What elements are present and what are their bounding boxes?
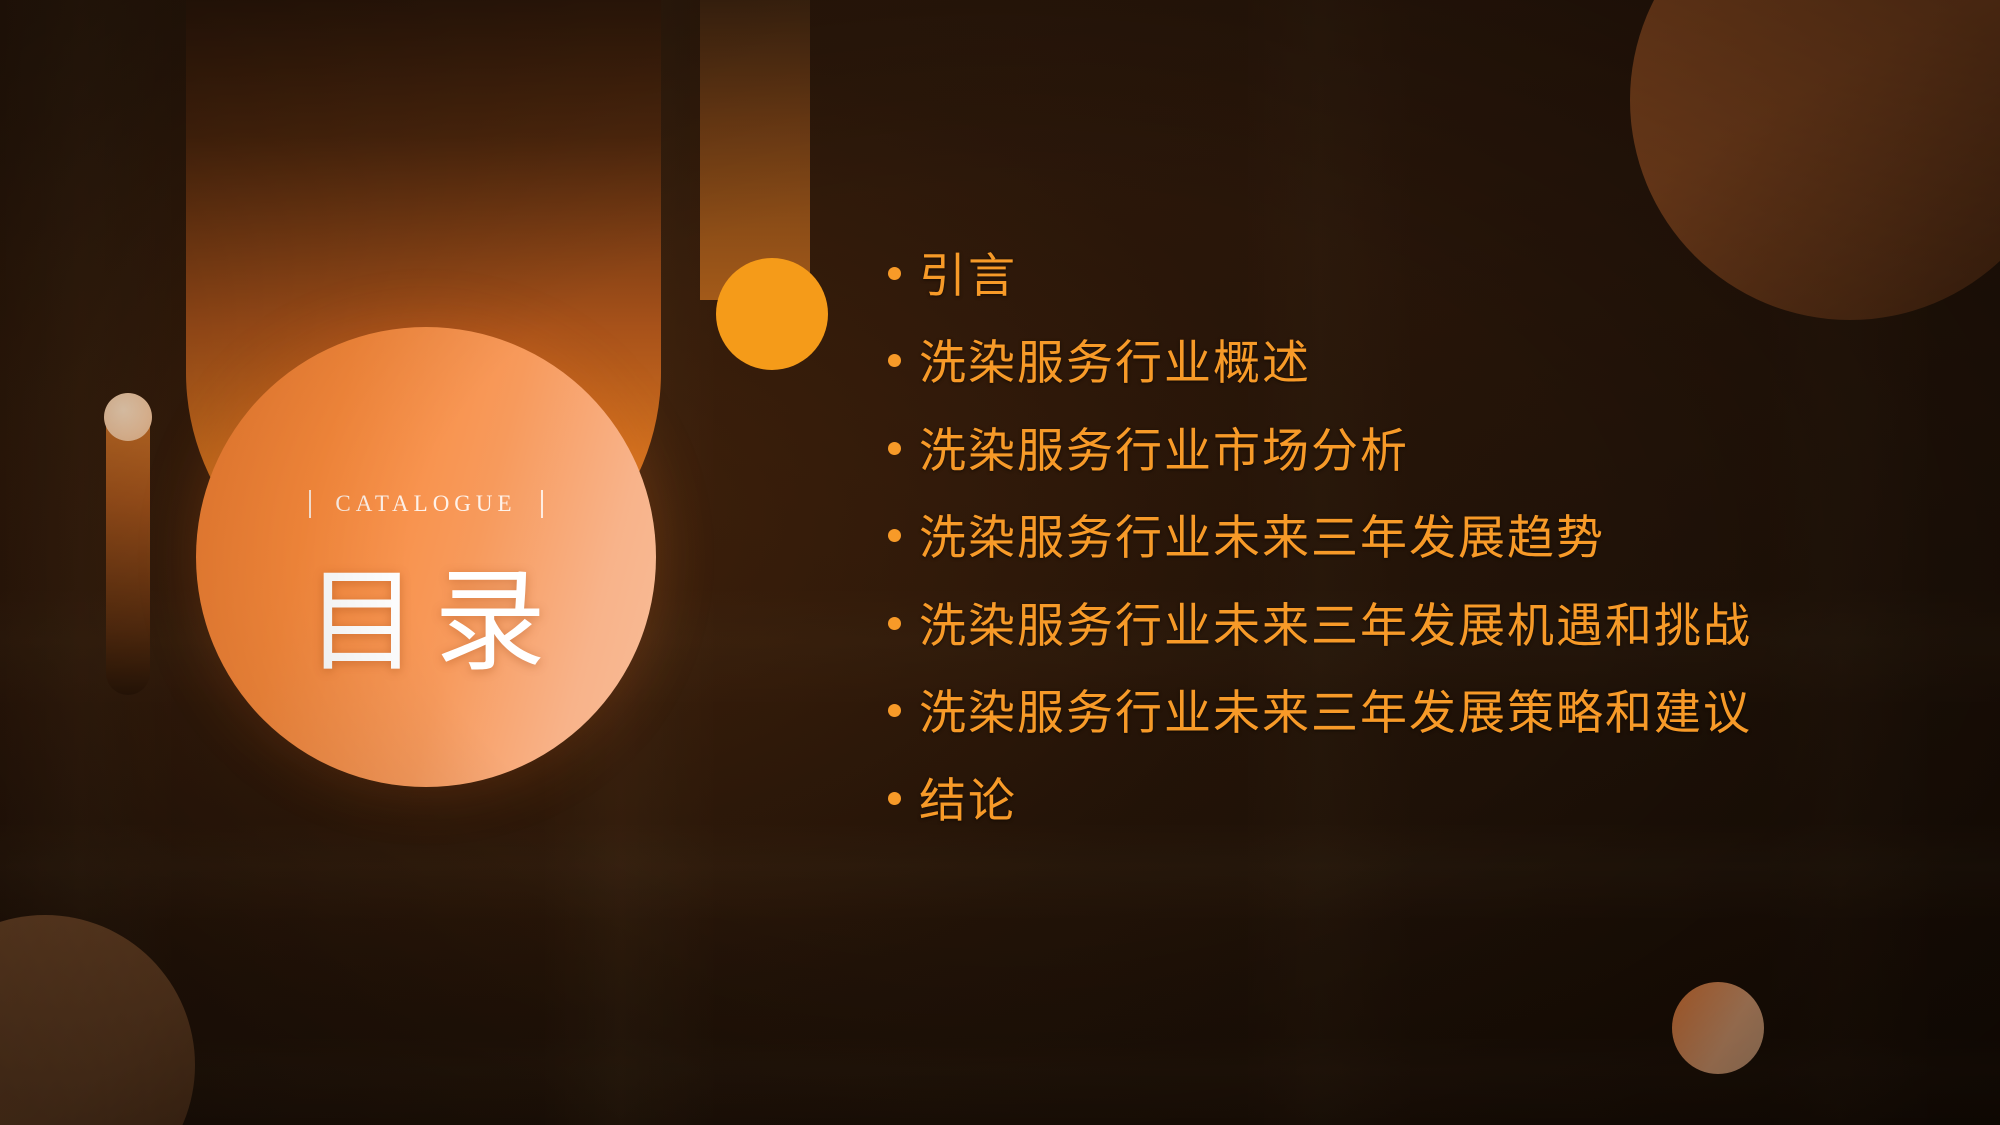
bullet-dot-icon bbox=[888, 704, 901, 717]
bullet-dot-icon bbox=[888, 792, 901, 805]
decorative-column-narrow bbox=[700, 0, 810, 300]
decorative-circle-bottom-left bbox=[0, 915, 195, 1125]
bullet-dot-icon bbox=[888, 529, 901, 542]
toc-item[interactable]: 洗染服务行业概述 bbox=[888, 337, 1908, 392]
slide-canvas: CATALOGUE 目录 引言 洗染服务行业概述 洗染服务行业市场分析 洗染服务… bbox=[0, 0, 2000, 1125]
toc-item[interactable]: 洗染服务行业未来三年发展趋势 bbox=[888, 512, 1908, 567]
bullet-dot-icon bbox=[888, 267, 901, 280]
toc-item-label: 洗染服务行业概述 bbox=[919, 337, 1311, 392]
toc-item[interactable]: 洗染服务行业未来三年发展机遇和挑战 bbox=[888, 600, 1908, 655]
toc-item-label: 洗染服务行业未来三年发展机遇和挑战 bbox=[919, 600, 1752, 655]
catalogue-badge: CATALOGUE 目录 bbox=[196, 327, 656, 787]
tick-left-icon bbox=[309, 490, 311, 518]
toc-item-label: 洗染服务行业未来三年发展策略和建议 bbox=[919, 687, 1752, 742]
toc-item[interactable]: 结论 bbox=[888, 775, 1908, 830]
catalogue-eyebrow-row: CATALOGUE bbox=[196, 490, 656, 518]
table-of-contents: 引言 洗染服务行业概述 洗染服务行业市场分析 洗染服务行业未来三年发展趋势 洗染… bbox=[888, 250, 1908, 862]
toc-item[interactable]: 洗染服务行业未来三年发展策略和建议 bbox=[888, 687, 1908, 742]
bullet-dot-icon bbox=[888, 354, 901, 367]
bullet-dot-icon bbox=[888, 617, 901, 630]
toc-item[interactable]: 洗染服务行业市场分析 bbox=[888, 425, 1908, 480]
toc-item[interactable]: 引言 bbox=[888, 250, 1908, 305]
tick-right-icon bbox=[541, 490, 543, 518]
toc-item-label: 洗染服务行业市场分析 bbox=[919, 425, 1409, 480]
bullet-dot-icon bbox=[888, 442, 901, 455]
decorative-circle-pill-cap bbox=[104, 393, 152, 441]
decorative-circle-orange-cap bbox=[716, 258, 828, 370]
decorative-circle-bottom-right bbox=[1672, 982, 1764, 1074]
catalogue-eyebrow-label: CATALOGUE bbox=[335, 491, 516, 517]
toc-item-label: 洗染服务行业未来三年发展趋势 bbox=[919, 512, 1605, 567]
toc-item-label: 结论 bbox=[919, 775, 1017, 830]
toc-item-label: 引言 bbox=[919, 250, 1017, 305]
catalogue-title: 目录 bbox=[196, 563, 656, 684]
